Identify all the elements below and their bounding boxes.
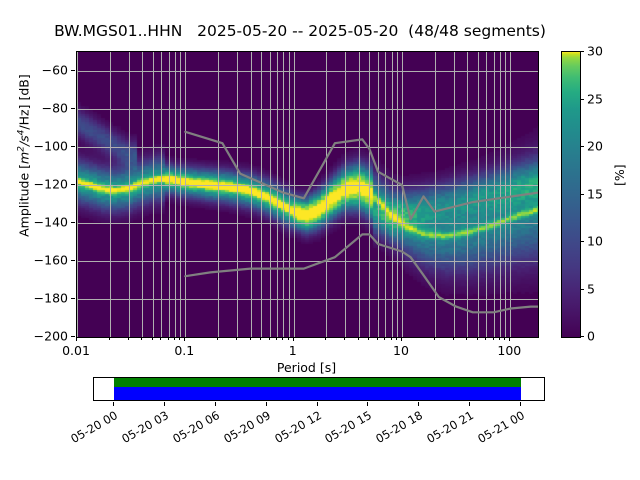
x-tick-minor: [152, 337, 153, 340]
x-tick-minor: [160, 337, 161, 340]
colorbar-tick-label: 25: [587, 91, 603, 106]
x-tick-minor: [250, 337, 251, 340]
x-tick-minor: [453, 337, 454, 340]
timeline-tick: [215, 402, 216, 406]
y-axis-label-sup2: 4: [16, 130, 26, 136]
colorbar-tick-label: 20: [587, 139, 603, 154]
y-axis-label: Amplitude [m2/s4/Hz] [dB]: [16, 36, 31, 276]
y-tick-label: −100: [0, 139, 68, 154]
colorbar-tick: [580, 99, 584, 100]
y-axis-label-sup1: 2: [16, 146, 26, 152]
colorbar-tick: [580, 336, 584, 337]
psd-segments-bar: [114, 387, 521, 400]
y-tick-major: [71, 70, 75, 71]
timeline-bars: [94, 378, 544, 400]
timeline-tick-label: 05-20 15: [315, 408, 374, 450]
x-tick-label: 0.1: [174, 343, 194, 358]
x-tick-major: [184, 337, 185, 341]
x-tick-minor: [269, 337, 270, 340]
y-axis-label-mid: /s: [17, 135, 32, 146]
y-tick-major: [71, 184, 75, 185]
x-axis-label: Period [s]: [76, 360, 537, 375]
timeline-tick: [266, 402, 267, 406]
y-tick-label: −140: [0, 215, 68, 230]
x-tick-minor: [288, 337, 289, 340]
noise-model-nhnm: [185, 132, 538, 219]
data-coverage-bar: [114, 378, 521, 387]
x-tick-minor: [325, 337, 326, 340]
timeline-tick-label: 05-20 00: [61, 408, 120, 450]
ppsd-density-canvas: [77, 52, 538, 337]
y-tick-label: −200: [0, 329, 68, 344]
timeline-tick-label: 05-20 03: [112, 408, 171, 450]
x-tick-minor: [179, 337, 180, 340]
colorbar-tick-label: 30: [587, 44, 603, 59]
x-tick-label: 0.01: [62, 343, 90, 358]
timeline-tick: [317, 402, 318, 406]
x-tick-minor: [128, 337, 129, 340]
timeline-axis[interactable]: [93, 377, 545, 401]
y-tick-label: −180: [0, 291, 68, 306]
x-tick-minor: [276, 337, 277, 340]
timeline-tick-label: 05-20 09: [214, 408, 273, 450]
timeline-tick: [469, 402, 470, 406]
x-tick-major: [509, 337, 510, 341]
timeline-tick: [113, 402, 114, 406]
x-tick-minor: [377, 337, 378, 340]
x-tick-minor: [217, 337, 218, 340]
timeline-tick-label: 05-20 06: [163, 408, 222, 450]
x-tick-minor: [434, 337, 435, 340]
y-tick-major: [71, 298, 75, 299]
x-tick-minor: [109, 337, 110, 340]
x-tick-label: 100: [497, 343, 521, 358]
gridline-horizontal: [77, 337, 538, 338]
timeline-tick: [367, 402, 368, 406]
page-title: BW.MGS01..HHN 2025-05-20 -- 2025-05-20 (…: [0, 22, 600, 40]
timeline-tick-label: 05-20 12: [265, 408, 324, 450]
y-tick-major: [71, 222, 75, 223]
x-tick-minor: [168, 337, 169, 340]
timeline-tick-label: 05-21 00: [468, 408, 527, 450]
x-tick-minor: [282, 337, 283, 340]
x-tick-major: [401, 337, 402, 341]
x-tick-label: 10: [393, 343, 409, 358]
y-tick-major: [71, 146, 75, 147]
y-tick-major: [71, 336, 75, 337]
noise-model-nlnm: [185, 234, 538, 312]
x-tick-minor: [344, 337, 345, 340]
colorbar-tick-label: 5: [587, 281, 595, 296]
y-tick-label: −80: [0, 101, 68, 116]
colorbar-label: [%]: [612, 164, 627, 186]
peterson-noise-model-curves: [77, 52, 538, 337]
y-axis-label-suffix: /Hz] [dB]: [17, 74, 32, 129]
x-tick-minor: [477, 337, 478, 340]
colorbar-tick: [580, 146, 584, 147]
timeline-tick-label: 05-20 18: [366, 408, 425, 450]
timeline-tick: [520, 402, 521, 406]
x-tick-minor: [466, 337, 467, 340]
x-tick-major: [76, 337, 77, 341]
y-axis-label-prefix: Amplitude [: [17, 164, 32, 237]
y-tick-label: −160: [0, 253, 68, 268]
x-tick-minor: [358, 337, 359, 340]
colorbar-tick-label: 10: [587, 234, 603, 249]
x-tick-minor: [493, 337, 494, 340]
x-tick-minor: [368, 337, 369, 340]
x-tick-major: [293, 337, 294, 341]
x-tick-minor: [260, 337, 261, 340]
y-tick-major: [71, 108, 75, 109]
colorbar-tick: [580, 51, 584, 52]
x-tick-minor: [499, 337, 500, 340]
colorbar-tick: [580, 289, 584, 290]
colorbar-tick: [580, 194, 584, 195]
timeline-tick: [164, 402, 165, 406]
ppsd-plot-area: [76, 51, 539, 338]
timeline-tick: [418, 402, 419, 406]
timeline-tick-label: 05-20 21: [417, 408, 476, 450]
y-tick-major: [71, 260, 75, 261]
y-tick-label: −60: [0, 63, 68, 78]
colorbar-tick-label: 0: [587, 329, 595, 344]
x-tick-minor: [141, 337, 142, 340]
colorbar-tick: [580, 241, 584, 242]
x-tick-minor: [485, 337, 486, 340]
x-tick-minor: [174, 337, 175, 340]
x-tick-minor: [236, 337, 237, 340]
y-axis-label-unit-m: m: [17, 152, 32, 164]
x-tick-minor: [396, 337, 397, 340]
y-tick-label: −120: [0, 177, 68, 192]
x-tick-minor: [504, 337, 505, 340]
x-tick-minor: [384, 337, 385, 340]
colorbar-tick-label: 15: [587, 186, 603, 201]
x-tick-label: 1: [289, 343, 297, 358]
x-tick-minor: [391, 337, 392, 340]
colorbar: [561, 51, 581, 338]
